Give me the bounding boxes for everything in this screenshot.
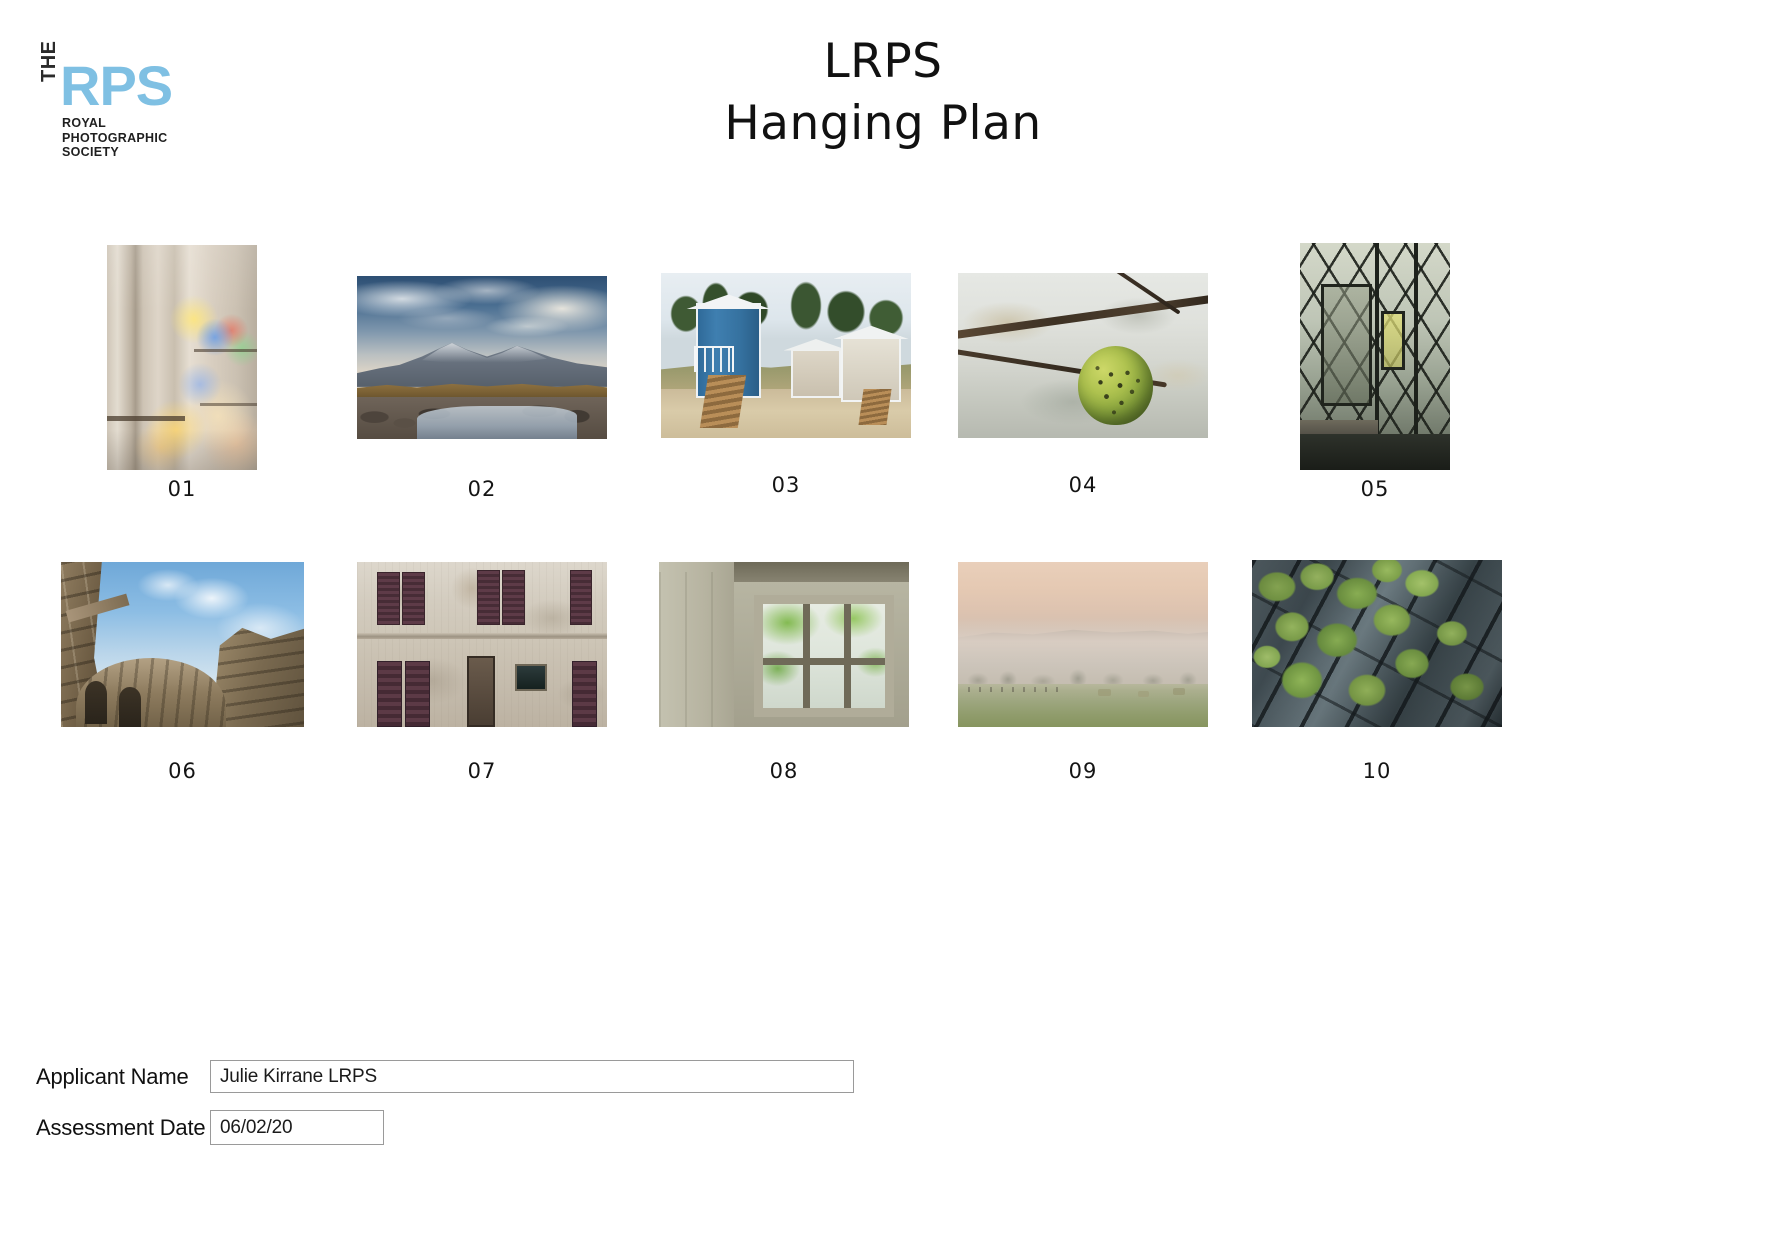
photo-art-ledge-2 — [194, 349, 257, 353]
applicant-name-label: Applicant Name — [36, 1064, 210, 1090]
photo-art-shading — [1252, 560, 1502, 727]
assessment-date-input[interactable]: 06/02/20 — [210, 1110, 384, 1145]
photo-caption-10: 10 — [1252, 759, 1502, 783]
photo-thumbnail-09[interactable] — [958, 562, 1208, 727]
photo-art-blue-hut-railing — [694, 346, 734, 372]
photo-art-transom — [763, 658, 885, 665]
photo-art-ledge-1 — [107, 416, 185, 421]
photo-art-white-hut-small — [791, 349, 841, 399]
applicant-name-input[interactable]: Julie Kirrane LRPS — [210, 1060, 854, 1093]
photo-thumbnail-08[interactable] — [659, 562, 909, 727]
photo-art-mullion-vertical-1 — [803, 604, 810, 708]
photo-art-window-2 — [119, 687, 141, 727]
photo-thumbnail-02[interactable] — [357, 276, 607, 439]
photo-thumbnail-05[interactable] — [1300, 243, 1450, 470]
photo-art-stairs-2 — [858, 389, 891, 425]
photo-caption-04: 04 — [958, 473, 1208, 497]
photo-caption-02: 02 — [357, 477, 607, 501]
photo-art-door-right — [572, 661, 597, 727]
photo-thumbnail-01[interactable] — [107, 245, 257, 470]
photo-art-yellow-pane — [1381, 311, 1405, 370]
photo-art-mist — [958, 562, 1208, 727]
photo-caption-03: 03 — [661, 473, 911, 497]
photo-art-shutter-5 — [570, 570, 593, 624]
photo-art-dark-window — [515, 664, 548, 690]
photo-art-shutter-2 — [402, 572, 425, 625]
photo-art-window-1 — [85, 681, 107, 724]
photo-thumbnail-03[interactable] — [661, 273, 911, 438]
photo-art-window-frame — [754, 595, 894, 717]
photo-thumbnail-10[interactable] — [1252, 560, 1502, 727]
page-title: LRPS Hanging Plan — [0, 32, 1766, 156]
photo-caption-07: 07 — [357, 759, 607, 783]
photo-art-door-centre — [467, 656, 495, 727]
photo-art-glass-panel — [1321, 284, 1372, 407]
photo-caption-06: 06 — [61, 759, 304, 783]
page-title-line-1: LRPS — [0, 32, 1766, 92]
photo-thumbnail-04[interactable] — [958, 273, 1208, 438]
photo-art-shutter-3 — [477, 570, 500, 624]
photo-caption-09: 09 — [958, 759, 1208, 783]
photo-art-string-course — [357, 633, 607, 639]
photo-thumbnail-07[interactable] — [357, 562, 607, 727]
photo-art-window-glass — [763, 604, 885, 708]
photo-art-shutter-1 — [377, 572, 400, 625]
applicant-name-row: Applicant Name Julie Kirrane LRPS — [36, 1060, 854, 1093]
photo-art-shading — [107, 245, 257, 470]
assessment-date-label: Assessment Date — [36, 1115, 210, 1141]
photo-caption-01: 01 — [107, 477, 257, 501]
photo-art-panelling — [659, 572, 734, 727]
photo-art-mullion-vertical-2 — [844, 604, 851, 708]
photo-art-door-left-2 — [405, 661, 430, 727]
photo-caption-05: 05 — [1300, 477, 1450, 501]
photo-caption-08: 08 — [659, 759, 909, 783]
photo-art-ledge-3 — [200, 403, 257, 406]
photo-art-shadow — [1300, 434, 1450, 470]
photo-thumbnail-06[interactable] — [61, 562, 304, 727]
photo-art-door-left-1 — [377, 661, 402, 727]
photo-art-apple-spots — [1078, 346, 1153, 425]
photo-art-river — [417, 406, 577, 439]
page-title-line-2: Hanging Plan — [0, 92, 1766, 156]
photo-art-stairs — [699, 375, 745, 428]
assessment-date-row: Assessment Date 06/02/20 — [36, 1110, 384, 1145]
photo-art-shutter-4 — [502, 570, 525, 624]
